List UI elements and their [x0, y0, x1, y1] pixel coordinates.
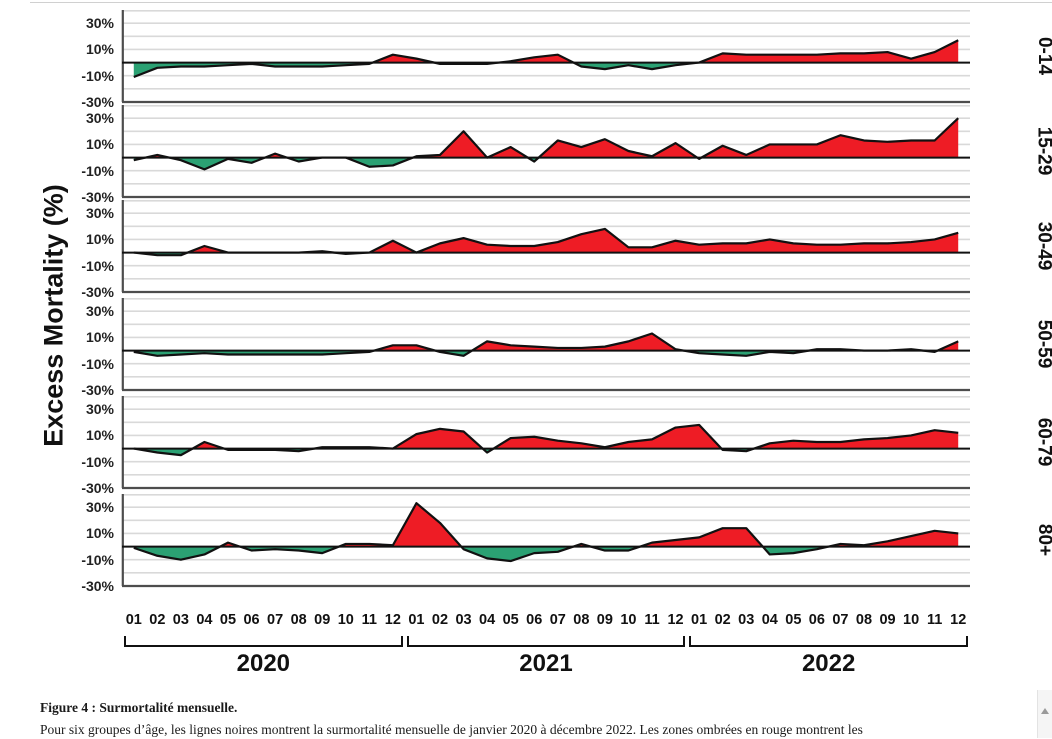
- month-label-2020-07: 07: [267, 612, 283, 628]
- year-label-2022: 2022: [802, 650, 855, 678]
- y-tick--10: -10%: [81, 258, 114, 274]
- y-tick-labels: 30%10%-10%-30%: [60, 396, 118, 488]
- age-group-80+: 80+: [1033, 524, 1052, 556]
- y-tick-labels: 30%10%-10%-30%: [60, 10, 118, 102]
- month-label-2022-06: 06: [809, 612, 825, 628]
- month-label-2021-04: 04: [479, 612, 495, 628]
- month-label-2021-05: 05: [503, 612, 519, 628]
- y-tick-10: 10%: [86, 41, 114, 57]
- month-label-2020-02: 02: [149, 612, 165, 628]
- plot-area: [122, 298, 970, 390]
- month-label-2020-01: 01: [126, 612, 142, 628]
- series-80+: [122, 494, 970, 586]
- month-label-2022-04: 04: [762, 612, 778, 628]
- series-50-59: [122, 298, 970, 390]
- month-label-2021-11: 11: [644, 612, 659, 628]
- year-label-2021: 2021: [519, 650, 572, 678]
- month-label-2022-12: 12: [950, 612, 966, 628]
- month-label-2022-07: 07: [832, 612, 848, 628]
- y-tick-30: 30%: [86, 499, 114, 515]
- month-label-2022-10: 10: [903, 612, 919, 628]
- month-label-2020-12: 12: [385, 612, 401, 628]
- y-tick-30: 30%: [86, 205, 114, 221]
- y-tick-10: 10%: [86, 329, 114, 345]
- month-tick-labels: 0102030405060708091011120102030405060708…: [122, 612, 970, 634]
- month-label-2022-02: 02: [715, 612, 731, 628]
- y-tick-labels: 30%10%-10%-30%: [60, 494, 118, 586]
- series-15-29: [122, 105, 970, 197]
- year-label-2020: 2020: [237, 650, 290, 678]
- year-brackets: [122, 636, 970, 648]
- age-group-0-14: 0-14: [1033, 37, 1052, 75]
- plot-area: [122, 10, 970, 102]
- x-axis: 0102030405060708091011120102030405060708…: [0, 612, 1052, 690]
- age-group-15-29: 15-29: [1033, 127, 1052, 176]
- y-tick-30: 30%: [86, 303, 114, 319]
- figure-caption: Figure 4 : Surmortalité mensuelle. Pour …: [40, 700, 1030, 739]
- panel-stack: 30%10%-10%-30%0-1430%10%-10%-30%15-2930%…: [0, 10, 1052, 610]
- y-tick-labels: 30%10%-10%-30%: [60, 200, 118, 292]
- month-label-2022-09: 09: [879, 612, 895, 628]
- month-label-2020-04: 04: [196, 612, 212, 628]
- plot-area: [122, 105, 970, 197]
- panel-30-49: 30%10%-10%-30%30-49: [0, 200, 1052, 292]
- y-tick--10: -10%: [81, 68, 114, 84]
- scrollbar[interactable]: [1037, 690, 1052, 738]
- bracket-2020: [124, 636, 403, 647]
- month-label-2022-11: 11: [927, 612, 942, 628]
- caption-title: Figure 4 : Surmortalité mensuelle.: [40, 700, 1030, 716]
- age-group-60-79: 60-79: [1033, 418, 1052, 467]
- y-tick-30: 30%: [86, 401, 114, 417]
- y-tick-labels: 30%10%-10%-30%: [60, 298, 118, 390]
- y-tick--10: -10%: [81, 163, 114, 179]
- month-label-2020-09: 09: [314, 612, 330, 628]
- panel-80+: 30%10%-10%-30%80+: [0, 494, 1052, 586]
- figure-root: Excess Mortality (%) Age Group 30%10%-10…: [0, 0, 1052, 738]
- year-labels: 202020212022: [122, 650, 970, 684]
- month-label-2020-06: 06: [243, 612, 259, 628]
- excess-mortality-figure: Excess Mortality (%) Age Group 30%10%-10…: [0, 0, 1052, 690]
- y-tick-labels: 30%10%-10%-30%: [60, 105, 118, 197]
- plot-area: [122, 494, 970, 586]
- month-label-2021-09: 09: [597, 612, 613, 628]
- month-label-2022-05: 05: [785, 612, 801, 628]
- y-tick--30: -30%: [81, 578, 114, 594]
- panel-50-59: 30%10%-10%-30%50-59: [0, 298, 1052, 390]
- panel-15-29: 30%10%-10%-30%15-29: [0, 105, 1052, 197]
- month-label-2021-06: 06: [526, 612, 542, 628]
- scroll-down-arrow[interactable]: [1041, 708, 1049, 714]
- panel-0-14: 30%10%-10%-30%0-14: [0, 10, 1052, 102]
- y-tick--10: -10%: [81, 356, 114, 372]
- bracket-2021: [407, 636, 686, 647]
- age-group-50-59: 50-59: [1033, 320, 1052, 369]
- month-label-2021-08: 08: [573, 612, 589, 628]
- panel-60-79: 30%10%-10%-30%60-79: [0, 396, 1052, 488]
- y-tick--10: -10%: [81, 454, 114, 470]
- plot-area: [122, 200, 970, 292]
- month-label-2022-08: 08: [856, 612, 872, 628]
- month-label-2020-05: 05: [220, 612, 236, 628]
- month-label-2020-10: 10: [338, 612, 354, 628]
- y-tick-10: 10%: [86, 525, 114, 541]
- month-label-2020-03: 03: [173, 612, 189, 628]
- y-tick-10: 10%: [86, 427, 114, 443]
- series-30-49: [122, 200, 970, 292]
- month-label-2021-02: 02: [432, 612, 448, 628]
- bracket-2022: [689, 636, 968, 647]
- caption-body: Pour six groupes d’âge, les lignes noire…: [40, 721, 1030, 739]
- month-label-2021-01: 01: [408, 612, 424, 628]
- series-60-79: [122, 396, 970, 488]
- y-tick-10: 10%: [86, 136, 114, 152]
- y-tick-10: 10%: [86, 231, 114, 247]
- y-tick-30: 30%: [86, 110, 114, 126]
- month-label-2022-03: 03: [738, 612, 754, 628]
- plot-area: [122, 396, 970, 488]
- month-label-2021-07: 07: [550, 612, 566, 628]
- age-group-30-49: 30-49: [1033, 222, 1052, 271]
- series-0-14: [122, 10, 970, 102]
- month-label-2021-10: 10: [620, 612, 636, 628]
- month-label-2021-12: 12: [667, 612, 683, 628]
- month-label-2020-11: 11: [362, 612, 377, 628]
- y-tick--10: -10%: [81, 552, 114, 568]
- y-tick-30: 30%: [86, 15, 114, 31]
- month-label-2021-03: 03: [455, 612, 471, 628]
- month-label-2020-08: 08: [291, 612, 307, 628]
- month-label-2022-01: 01: [691, 612, 707, 628]
